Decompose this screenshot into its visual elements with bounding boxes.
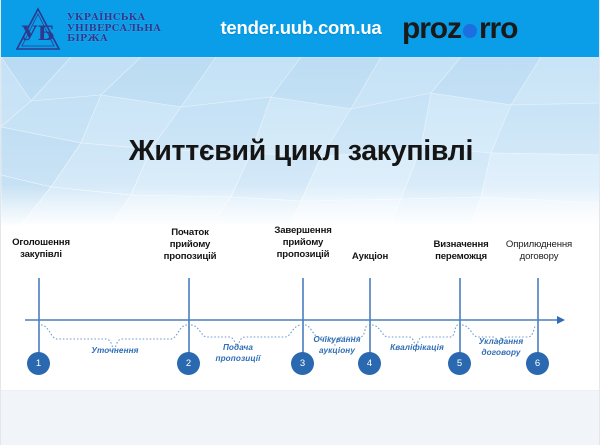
timeline-node-1[interactable]: 1 <box>27 352 50 375</box>
milestone-label-4: Аукціон <box>339 251 401 263</box>
phase-label-5: Укладання договору <box>466 337 536 358</box>
procurement-lifecycle-timeline: Оголошення закупівлі Початок прийому про… <box>1 225 600 390</box>
right-arrow-icon <box>557 316 565 324</box>
timeline-node-3[interactable]: 3 <box>291 352 314 375</box>
prozorro-logo: proz rro <box>402 12 517 46</box>
blue-dot-icon <box>463 24 477 38</box>
timeline-node-6[interactable]: 6 <box>526 352 549 375</box>
timeline-node-4[interactable]: 4 <box>358 352 381 375</box>
prozorro-text-left: proz <box>402 12 461 46</box>
milestone-label-2: Початок прийому пропозицій <box>150 227 230 263</box>
page-title: Життєвий цикл закупівлі <box>1 135 600 168</box>
phase-label-3: Очікування аукціону <box>305 335 369 356</box>
phase-label-4: Кваліфікація <box>381 343 453 354</box>
presentation-slide: УБ УКРАЇНСЬКА УНІВЕРСАЛЬНА БІРЖА tender.… <box>0 0 600 445</box>
phase-label-1: Уточнення <box>76 346 154 357</box>
milestone-label-6: Оприлюднення договору <box>493 239 585 263</box>
prozorro-text-right: rro <box>479 12 517 46</box>
phase-label-2: Подача пропозиції <box>205 343 271 364</box>
milestone-label-1: Оголошення закупівлі <box>1 237 81 261</box>
milestone-label-3: Завершення прийому пропозицій <box>259 225 347 261</box>
slide-footer-area <box>1 390 600 445</box>
header-bar: УБ УКРАЇНСЬКА УНІВЕРСАЛЬНА БІРЖА tender.… <box>1 0 600 57</box>
timeline-node-2[interactable]: 2 <box>177 352 200 375</box>
timeline-node-5[interactable]: 5 <box>448 352 471 375</box>
